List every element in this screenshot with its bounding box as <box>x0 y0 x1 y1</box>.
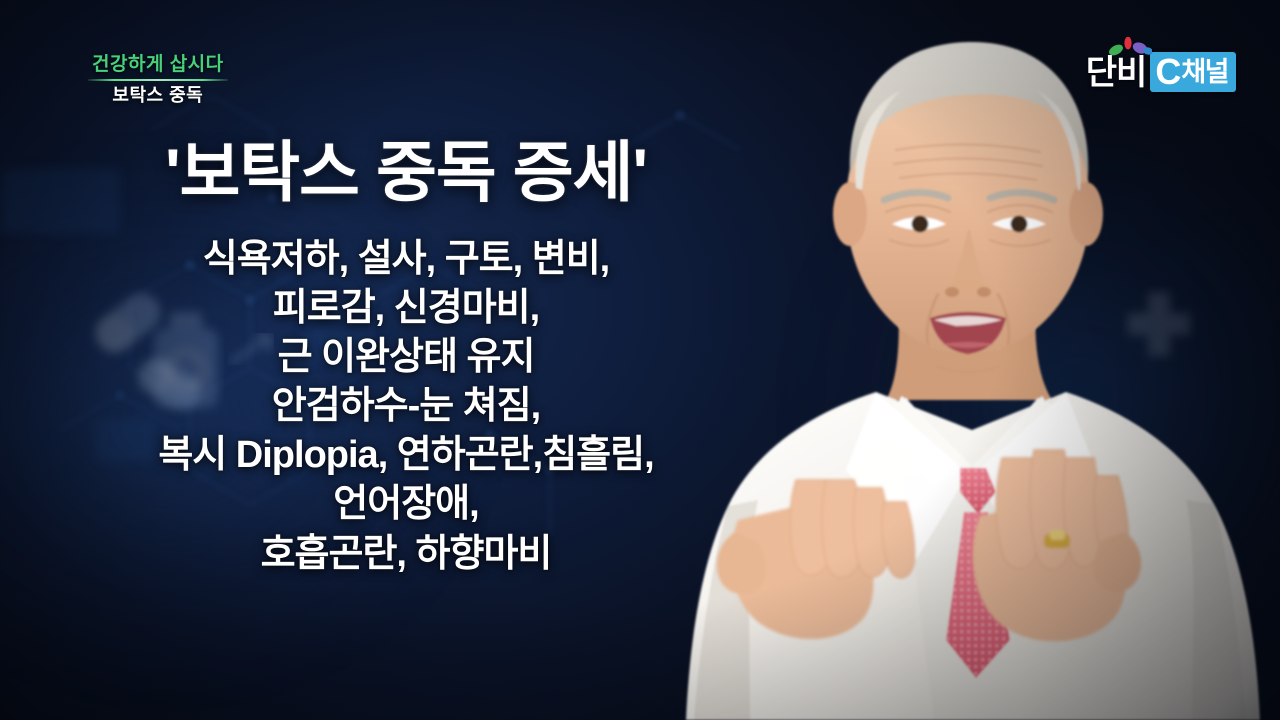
corner-divider <box>88 79 228 81</box>
symptom-line: 피로감, 신경마비, <box>273 285 539 332</box>
symptom-line: 호흡곤란, 하향마비 <box>261 531 552 578</box>
logo-c-mark: C <box>1155 54 1180 90</box>
logo-channel-box: C 채널 <box>1150 52 1236 92</box>
caption-block: '보탁스 중독 증세' 식욕저하, 설사, 구토, 변비, 피로감, 신경마비,… <box>0 136 812 578</box>
program-title: 건강하게 삽시다 <box>88 55 228 79</box>
symptom-line: 언어장애, <box>333 481 478 528</box>
logo-petals-icon <box>1108 37 1152 57</box>
headline-text: '보탁스 중독 증세' <box>0 136 812 210</box>
program-corner-label: 건강하게 삽시다 보탁스 중독 <box>88 55 228 104</box>
logo-brand-text: 단비 <box>1086 54 1151 92</box>
symptom-line: 식욕저하, 설사, 구토, 변비, <box>203 236 610 283</box>
symptom-line: 근 이완상태 유지 <box>278 334 535 381</box>
symptom-list: 식욕저하, 설사, 구토, 변비, 피로감, 신경마비, 근 이완상태 유지 안… <box>0 236 812 578</box>
symptom-line: 안검하수-눈 쳐짐, <box>272 383 541 430</box>
channel-logo: 단비 C 채널 <box>1086 38 1236 92</box>
logo-channel-text: 채널 <box>1180 57 1228 87</box>
symptom-line: 복시 Diplopia, 연하곤란,침흘림, <box>158 432 653 479</box>
topic-title: 보탁스 중독 <box>88 86 228 104</box>
video-frame: 건강하게 삽시다 보탁스 중독 단비 C 채널 '보탁스 중독 증세' 식욕저하… <box>0 0 1280 720</box>
